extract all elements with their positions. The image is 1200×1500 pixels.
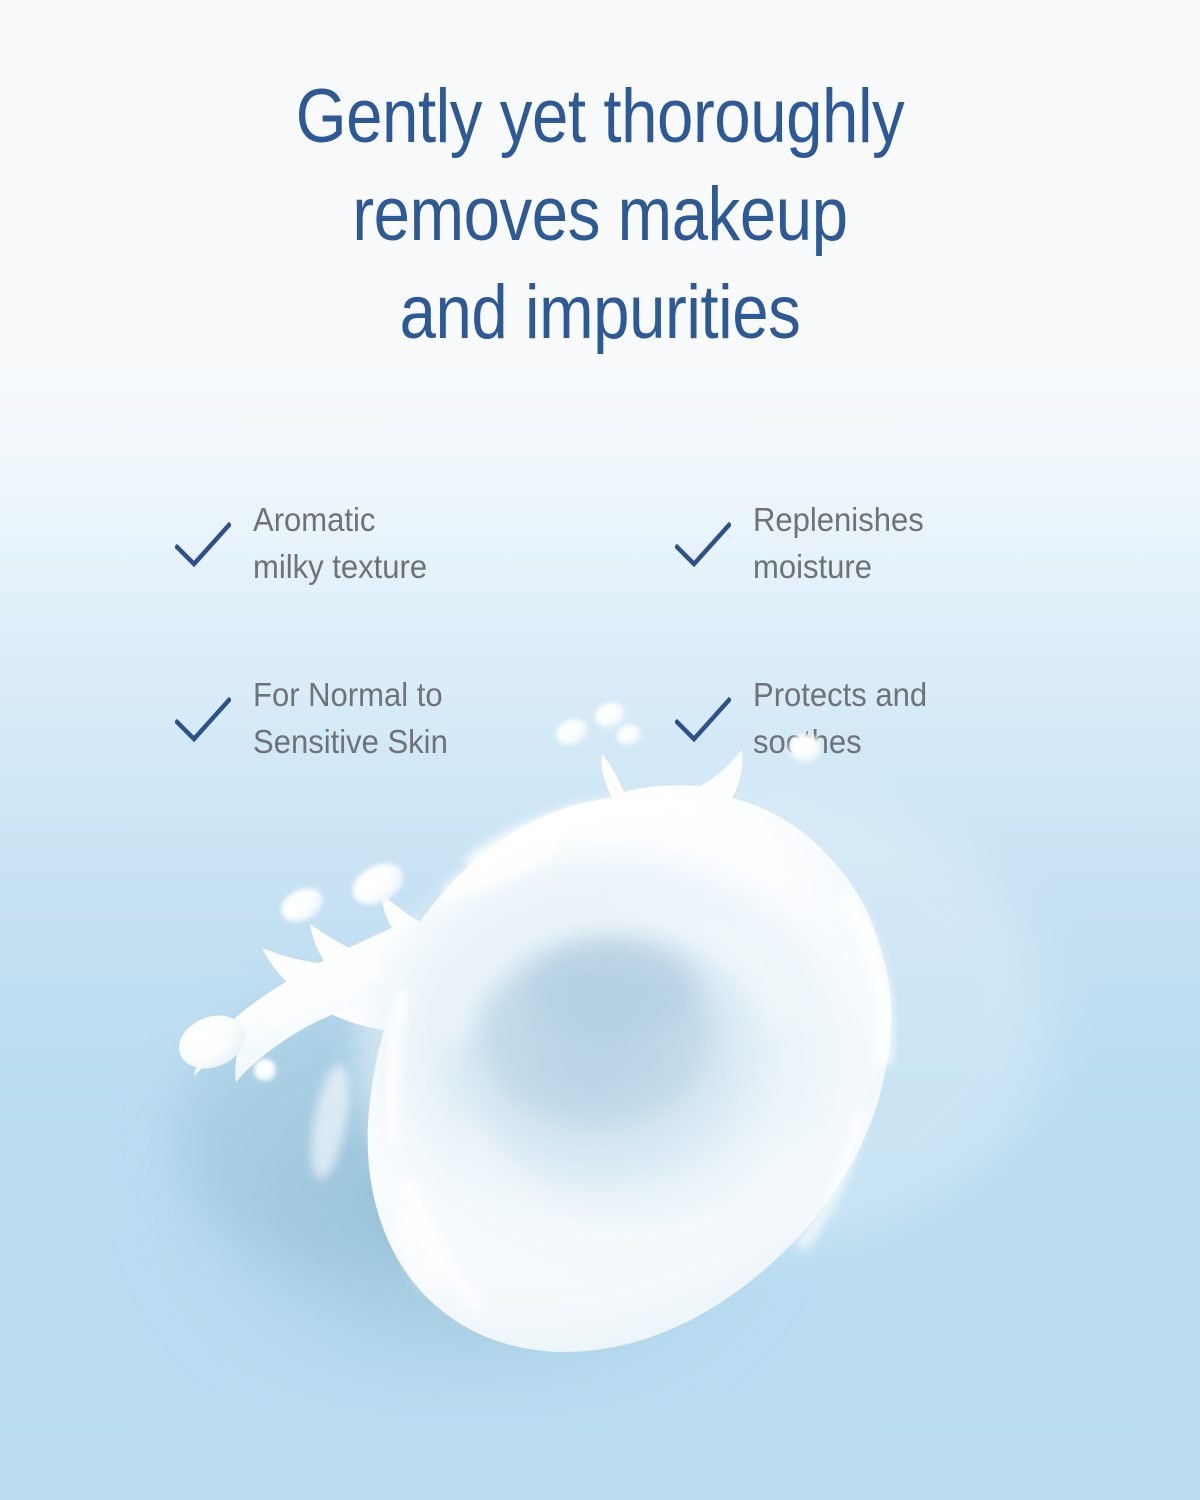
benefit-label: Replenishes moisture	[753, 496, 924, 590]
milk-droplet	[553, 715, 592, 749]
milk-droplet	[254, 1059, 276, 1081]
product-benefits-page: Gently yet thoroughly removes makeup and…	[0, 0, 1200, 1500]
milk-droplet	[346, 855, 411, 912]
milk-droplet	[615, 722, 643, 748]
check-icon	[675, 520, 731, 570]
headline-line-1: Gently yet thoroughly	[84, 68, 1116, 166]
headline-line-2: removes makeup	[84, 166, 1116, 264]
page-title: Gently yet thoroughly removes makeup and…	[84, 68, 1116, 362]
headline-line-3: and impurities	[84, 264, 1116, 362]
benefit-item-replenishes-moisture: Replenishes moisture	[675, 455, 1075, 630]
milk-droplet	[592, 699, 628, 731]
milk-droplet	[789, 734, 821, 762]
check-icon	[175, 520, 231, 570]
benefit-item-aromatic-milky-texture: Aromatic milky texture	[175, 455, 675, 630]
benefit-label: Aromatic milky texture	[253, 496, 427, 590]
milk-splash-illustration	[0, 690, 1200, 1500]
milk-droplet	[276, 882, 329, 928]
